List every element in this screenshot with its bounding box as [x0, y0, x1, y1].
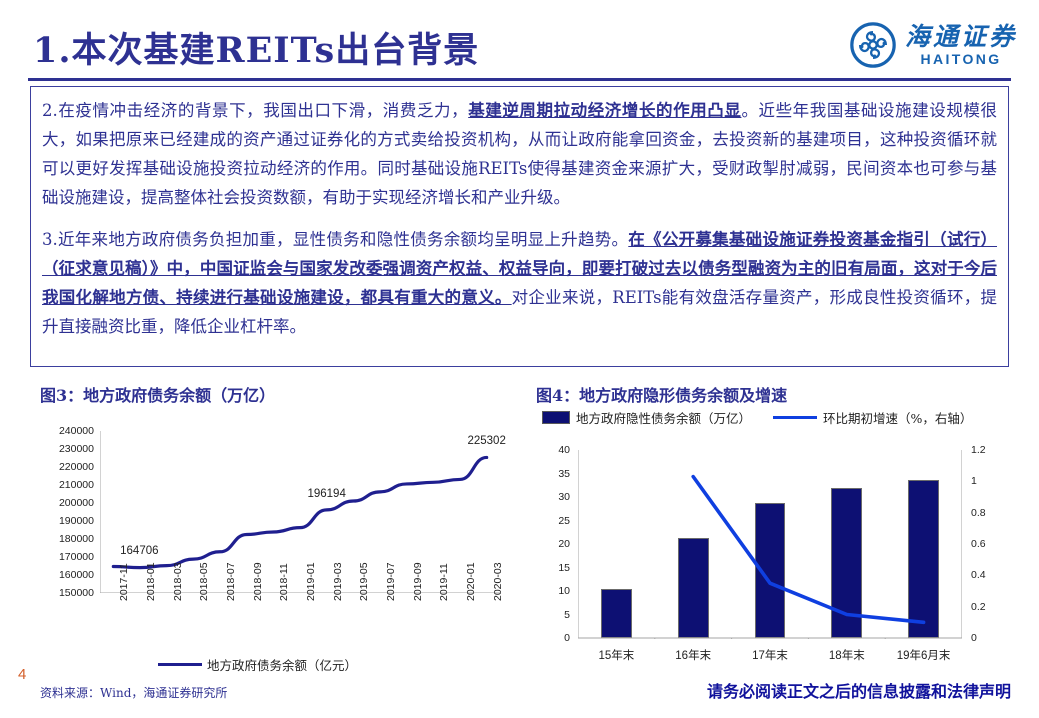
company-logo: 海通证券 HAITONG — [850, 22, 1017, 68]
figure-3-y-tick: 160000 — [59, 569, 94, 581]
figure-4-y-left-tick: 15 — [558, 562, 570, 574]
figure-4-y-right-tick: 0.4 — [971, 569, 986, 581]
source-note: 资料来源：Wind，海通证券研究所 — [40, 684, 227, 701]
legend-label-growth-rate: 环比期初增速（%，右轴） — [823, 408, 972, 427]
figure-4-chart: 地方政府隐性债务余额（万亿） 环比期初增速（%，右轴） 051015202530… — [532, 408, 1014, 670]
figure-4-y-left-tick: 25 — [558, 515, 570, 527]
figure-4-y-right-tick: 1.2 — [971, 444, 986, 456]
figure-3-title: 图3：地方政府债务余额（万亿） — [40, 382, 275, 406]
legend-item-hidden-debt: 地方政府隐性债务余额（万亿） — [542, 408, 751, 427]
logo-chinese-name: 海通证券 — [905, 24, 1017, 49]
figure-3-x-tick: 2019-03 — [332, 562, 344, 601]
figure-3-x-tick: 2019-11 — [438, 563, 450, 601]
figure-3-x-tick: 2018-05 — [198, 562, 210, 601]
figure-3-y-tick: 230000 — [59, 443, 94, 455]
figure-3-x-tick: 2019-05 — [358, 562, 370, 601]
figure-3-y-tick: 210000 — [59, 479, 94, 491]
figure-3-x-tick: 2018-03 — [172, 562, 184, 601]
figure-4-y-left-tick: 5 — [564, 609, 570, 621]
figure-3-legend: 地方政府债务余额（亿元） — [158, 655, 357, 674]
legend-label-hidden-debt: 地方政府隐性债务余额（万亿） — [576, 408, 751, 427]
figure-3-y-tick: 220000 — [59, 461, 94, 473]
figure-3-y-tick: 170000 — [59, 551, 94, 563]
figure-3-chart: 地方政府债务余额（亿元） 150000160000170000180000190… — [38, 424, 518, 689]
figure-4-x-tick: 16年末 — [675, 647, 711, 663]
haitong-emblem-icon — [850, 22, 896, 68]
figure-3-x-tick: 2019-09 — [412, 562, 424, 601]
figure-3-y-tick: 200000 — [59, 497, 94, 509]
figure-4-y-left-tick: 0 — [564, 632, 570, 644]
figure-4-y-left-tick: 35 — [558, 468, 570, 480]
logo-english-name: HAITONG — [920, 52, 1001, 66]
figure-3-data-label: 164706 — [120, 545, 158, 557]
figure-4-x-tick: 19年6月末 — [897, 647, 951, 663]
title-divider — [28, 78, 1011, 81]
figure-4-y-right-tick: 0 — [971, 632, 977, 644]
paragraph-3: 3.近年来地方政府债务负担加重，显性债务和隐性债务余额均呈明显上升趋势。在《公开… — [42, 225, 997, 341]
figure-3-y-tick: 240000 — [59, 425, 94, 437]
figure-4-y-left-tick: 10 — [558, 585, 570, 597]
paragraph-3-lead: 3.近年来地方政府债务负担加重，显性债务和隐性债务余额均呈明显上升趋势。 — [42, 230, 628, 249]
figure-4-y-right-tick: 1 — [971, 475, 977, 487]
figure-4-legend: 地方政府隐性债务余额（万亿） 环比期初增速（%，右轴） — [542, 408, 972, 427]
figure-4-y-right-tick: 0.8 — [971, 507, 986, 519]
figure-4-y-left-tick: 30 — [558, 491, 570, 503]
figure-4-x-tick: 17年末 — [752, 647, 788, 663]
page-title: 1.本次基建REITs出台背景 — [33, 22, 479, 73]
figure-3-x-tick: 2017-11 — [118, 563, 130, 601]
figure-4-x-tick: 15年末 — [598, 647, 634, 663]
figure-3-x-tick: 2018-01 — [145, 562, 157, 601]
figure-4-x-tick: 18年末 — [829, 647, 865, 663]
content-textbox: 2.在疫情冲击经济的背景下，我国出口下滑，消费乏力，基建逆周期拉动经济增长的作用… — [30, 86, 1009, 367]
figure-3-data-label: 225302 — [467, 435, 505, 447]
figure-3-y-tick: 180000 — [59, 533, 94, 545]
figure-3-x-tick: 2020-01 — [465, 562, 477, 601]
logo-wordmark: 海通证券 HAITONG — [905, 24, 1017, 66]
paragraph-2-lead: 2.在疫情冲击经济的背景下，我国出口下滑，消费乏力， — [42, 101, 468, 120]
legend-label-debt-balance: 地方政府债务余额（亿元） — [207, 655, 357, 674]
disclaimer-text: 请务必阅读正文之后的信息披露和法律声明 — [707, 678, 1011, 702]
figure-3-x-tick: 2019-07 — [385, 562, 397, 601]
legend-line-swatch-growth — [773, 416, 817, 420]
figure-3-x-tick: 2018-07 — [225, 562, 237, 601]
figure-4-series-layer — [578, 450, 962, 639]
figure-3-x-tick: 2018-09 — [252, 562, 264, 601]
figure-3-data-label: 196194 — [307, 488, 345, 500]
page-number: 4 — [18, 666, 26, 683]
figure-4-title: 图4：地方政府隐形债务余额及增速 — [536, 382, 787, 406]
figure-3-x-tick: 2020-03 — [492, 562, 504, 601]
figure-3-x-tick: 2019-01 — [305, 562, 317, 601]
slide: 1.本次基建REITs出台背景 海通证券 HAITONG 2.在疫情冲击经济的背… — [0, 0, 1039, 718]
legend-bar-swatch — [542, 411, 570, 424]
paragraph-2-emphasis: 基建逆周期拉动经济增长的作用凸显 — [468, 101, 741, 120]
figure-3-y-tick: 150000 — [59, 587, 94, 599]
figure-3-x-tick: 2018-11 — [278, 563, 290, 601]
legend-line-swatch — [158, 663, 202, 667]
legend-item-growth-rate: 环比期初增速（%，右轴） — [773, 408, 972, 427]
figure-4-y-right-tick: 0.2 — [971, 601, 986, 613]
figure-4-y-left-tick: 20 — [558, 538, 570, 550]
figure-4-plot-area — [578, 450, 962, 638]
figure-4-y-left-tick: 40 — [558, 444, 570, 456]
figure-3-y-tick: 190000 — [59, 515, 94, 527]
paragraph-2: 2.在疫情冲击经济的背景下，我国出口下滑，消费乏力，基建逆周期拉动经济增长的作用… — [42, 96, 997, 212]
figure-4-y-right-tick: 0.6 — [971, 538, 986, 550]
